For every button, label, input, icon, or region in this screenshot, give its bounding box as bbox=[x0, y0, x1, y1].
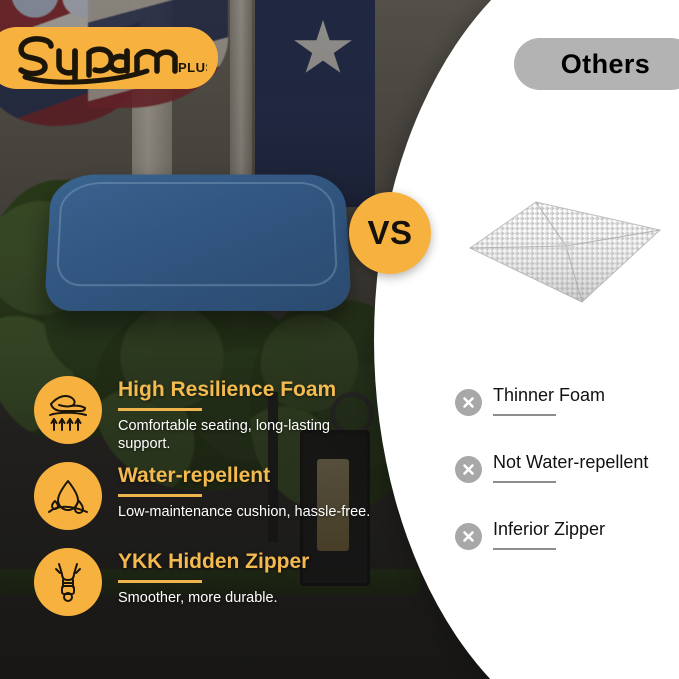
zipper-icon bbox=[34, 548, 102, 616]
feature-text-group: YKK Hidden Zipper Smoother, more durable… bbox=[118, 550, 384, 607]
feature-list: High Resilience Foam Comfortable seating… bbox=[34, 372, 384, 630]
product-cushion-image bbox=[48, 172, 348, 310]
cushion-piping bbox=[56, 182, 339, 286]
feature-rule bbox=[118, 494, 202, 497]
con-title: Thinner Foam bbox=[493, 385, 605, 407]
con-title: Inferior Zipper bbox=[493, 519, 605, 541]
cons-list: Thinner Foam Not Water-repellent bbox=[455, 385, 679, 586]
feature-title: High Resilience Foam bbox=[118, 378, 384, 401]
comparison-infographic: PLUS VS Others bbox=[0, 0, 679, 679]
x-circle-icon bbox=[455, 523, 482, 550]
svg-text:PLUS: PLUS bbox=[178, 60, 207, 75]
con-rule bbox=[493, 548, 556, 550]
con-item-not-water-repellent: Not Water-repellent bbox=[455, 452, 679, 519]
competitor-cushion-svg bbox=[462, 196, 667, 308]
con-rule bbox=[493, 481, 556, 483]
feature-title: YKK Hidden Zipper bbox=[118, 550, 384, 573]
others-label-pill: Others bbox=[514, 38, 679, 90]
feature-text-group: High Resilience Foam Comfortable seating… bbox=[118, 378, 384, 453]
feature-rule bbox=[118, 408, 202, 411]
con-title: Not Water-repellent bbox=[493, 452, 648, 474]
feature-rule bbox=[118, 580, 202, 583]
vs-badge: VS bbox=[349, 192, 431, 274]
con-item-thinner-foam: Thinner Foam bbox=[455, 385, 679, 452]
con-rule bbox=[493, 414, 556, 416]
feature-subtitle: Smoother, more durable. bbox=[118, 589, 384, 607]
feature-item-water-repellent: Water-repellent Low-maintenance cushion,… bbox=[34, 458, 384, 544]
competitor-cushion-image bbox=[462, 196, 667, 308]
cushion-top-surface bbox=[44, 175, 352, 311]
feature-subtitle: Comfortable seating, long-lasting suppor… bbox=[118, 417, 384, 453]
hand-on-foam-icon bbox=[34, 376, 102, 444]
water-droplet-icon bbox=[34, 462, 102, 530]
con-item-inferior-zipper: Inferior Zipper bbox=[455, 519, 679, 586]
feature-item-ykk-hidden-zipper: YKK Hidden Zipper Smoother, more durable… bbox=[34, 544, 384, 630]
brand-logo: PLUS bbox=[0, 27, 218, 89]
brand-logo-wordmark-icon: PLUS bbox=[0, 31, 207, 85]
con-text-group: Inferior Zipper bbox=[493, 519, 605, 550]
feature-item-high-resilience-foam: High Resilience Foam Comfortable seating… bbox=[34, 372, 384, 458]
con-text-group: Thinner Foam bbox=[493, 385, 605, 416]
con-text-group: Not Water-repellent bbox=[493, 452, 648, 483]
feature-subtitle: Low-maintenance cushion, hassle-free. bbox=[118, 503, 384, 521]
x-circle-icon bbox=[455, 456, 482, 483]
feature-text-group: Water-repellent Low-maintenance cushion,… bbox=[118, 464, 384, 521]
feature-title: Water-repellent bbox=[118, 464, 384, 487]
x-circle-icon bbox=[455, 389, 482, 416]
